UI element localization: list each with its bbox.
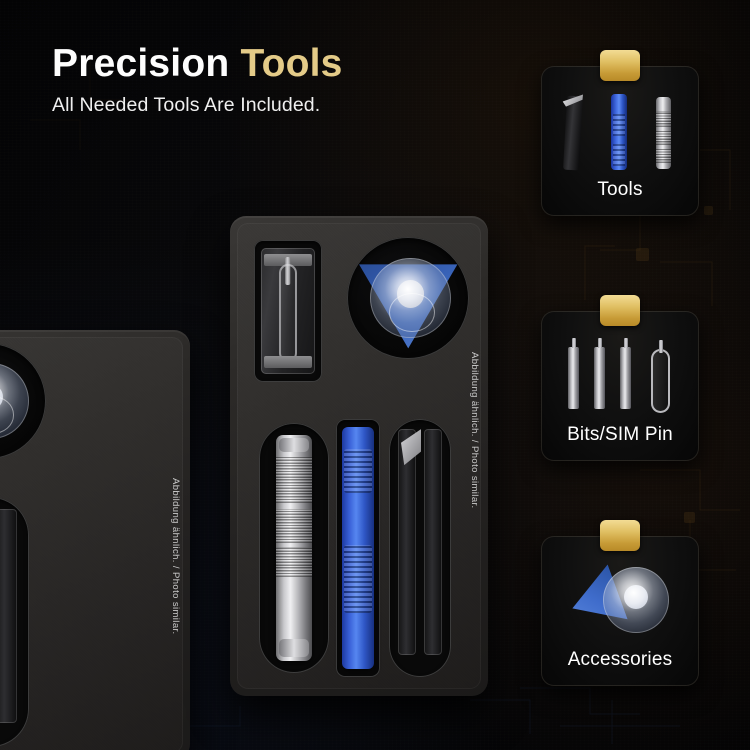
spudger-grip-lower: [344, 545, 372, 613]
spudger-slot: [336, 419, 380, 677]
suction-cup-knob: [624, 585, 648, 609]
handle-knurl-upper: [656, 111, 671, 127]
suction-cup-ring: [389, 293, 434, 332]
handle-cap-bottom: [279, 639, 309, 657]
spudger-grip-upper: [344, 449, 372, 493]
sim-pin-stem: [659, 340, 663, 353]
card-art-tools: [541, 88, 699, 170]
sim-pin-holder-slot: [254, 240, 322, 382]
bit-icon: [568, 347, 579, 409]
gold-tab: [600, 50, 640, 81]
bit-icon: [620, 347, 631, 409]
suction-cup-icon: [603, 567, 669, 633]
tweezer-tip: [562, 93, 583, 107]
tray-side-disclaimer: Abbildung ähnlich. / Photo similar.: [170, 478, 181, 635]
suction-cup-icon: [370, 258, 451, 339]
gold-tab: [600, 520, 640, 551]
title-word-precision: Precision: [52, 42, 229, 85]
secondary-tool-tray: Abbildung ähnlich. / Photo similar.: [0, 330, 190, 750]
tweezer-arm-right: [0, 509, 17, 723]
headline-block: Precision Tools All Needed Tools Are Inc…: [52, 44, 343, 117]
card-art-bits: [541, 333, 699, 415]
category-card-accessories[interactable]: Accessories: [541, 536, 699, 686]
gold-tab: [600, 295, 640, 326]
spudger-icon: [611, 94, 627, 170]
handle-knurl-lower: [276, 547, 312, 577]
main-tool-tray: Abbildung ähnlich. / Photo similar.: [230, 216, 488, 696]
category-card-tools[interactable]: Tools: [541, 66, 699, 216]
handle-knurl-mid: [656, 131, 671, 145]
tweezer-arm-right: [424, 429, 442, 655]
sim-pin-icon: [651, 349, 670, 413]
tray-foam-insert: [237, 223, 481, 689]
suction-cup-icon: [0, 363, 29, 440]
card-label: Accessories: [541, 649, 699, 671]
handle-knurl-upper: [276, 457, 312, 503]
sim-pin-holder-icon: [261, 248, 315, 374]
spudger-grip-lower: [613, 144, 625, 166]
card-art-accessories: [541, 558, 699, 640]
tray-foam-insert: [0, 337, 183, 750]
tweezers-icon: [563, 96, 583, 171]
bit-tip: [572, 338, 576, 348]
card-label: Tools: [541, 179, 699, 201]
bit-tip: [624, 338, 628, 348]
handle-knurl-lower: [656, 149, 671, 163]
card-label: Bits/SIM Pin: [541, 424, 699, 446]
tweezers-slot: [389, 419, 451, 677]
driver-handle-slot: [259, 423, 329, 673]
category-card-bits-sim-pin[interactable]: Bits/SIM Pin: [541, 311, 699, 461]
spudger-icon: [342, 427, 374, 669]
tweezer-arm-left: [398, 429, 416, 655]
bit-icon: [594, 347, 605, 409]
subtitle: All Needed Tools Are Included.: [52, 94, 343, 117]
page-title: Precision Tools: [52, 44, 343, 83]
spudger-grip-upper: [613, 114, 625, 136]
product-banner: Precision Tools All Needed Tools Are Inc…: [0, 0, 750, 750]
bit-tip: [598, 338, 602, 348]
tweezers-slot: [0, 497, 29, 747]
title-word-tools: Tools: [240, 42, 342, 85]
handle-knurl-mid: [276, 509, 312, 543]
driver-handle-icon: [656, 97, 671, 169]
suction-cup-ring: [0, 396, 14, 433]
driver-handle-icon: [276, 435, 312, 661]
sim-pin-icon: [279, 264, 297, 361]
handle-cap-top: [279, 438, 309, 452]
tweezers-icon: [398, 429, 442, 655]
tray-side-disclaimer: Abbildung ähnlich. / Photo similar.: [469, 352, 480, 509]
suction-cup-well: [347, 237, 469, 359]
tweezers-icon: [0, 509, 17, 723]
